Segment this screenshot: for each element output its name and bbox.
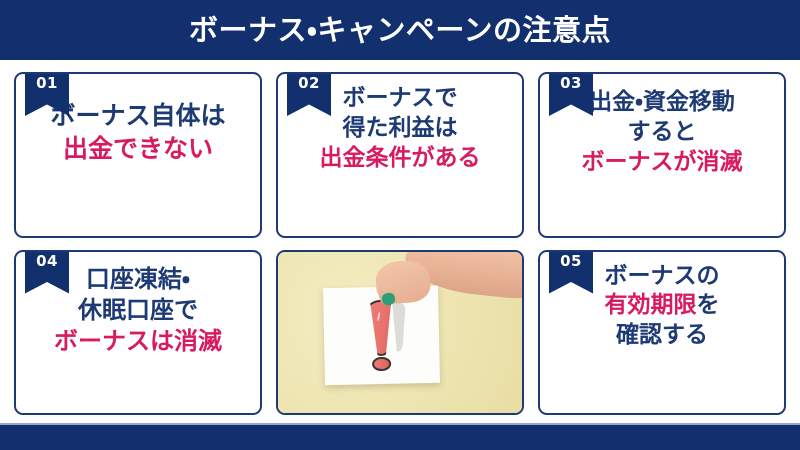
warning-card-photo [278, 252, 522, 414]
badge-number: 04 [25, 254, 69, 269]
text-segment: ボーナスは消滅 [54, 327, 222, 355]
notice-card-03: 03 出金・資金移動 すると ボーナスが消滅 [538, 72, 786, 238]
text-segment: 出金条件がある [320, 145, 481, 171]
notice-card-02: 02 ボーナスで 得た利益は 出金条件がある [276, 72, 524, 238]
text-segment: ボーナスが消滅 [582, 149, 743, 175]
photo-tile [276, 250, 524, 416]
card-line: すると [546, 118, 778, 148]
card-line: 休眠口座で [22, 295, 254, 326]
notice-card-04: 04 口座凍結・ 休眠口座で ボーナスは消滅 [14, 250, 262, 416]
exclamation-dot [373, 357, 392, 372]
card-line: ボーナスが消滅 [546, 148, 778, 178]
text-segment: ボーナスの [605, 263, 720, 289]
card-line: 確認する [546, 321, 778, 351]
text-segment: ボーナスで [343, 85, 458, 111]
card-line: 出金条件がある [284, 144, 516, 174]
card-line: ボーナスは消滅 [22, 326, 254, 357]
card-line: 有効期限を [546, 291, 778, 321]
cards-grid: 01 ボーナス自体は 出金できない 02 ボーナスで 得た利益は 出金条件がある… [0, 60, 800, 425]
badge-number: 03 [549, 76, 593, 91]
badge-number: 05 [549, 254, 593, 269]
text-segment: 有効期限 [605, 292, 697, 318]
text-segment: すると [628, 119, 697, 145]
notice-card-05: 05 ボーナスの 有効期限を 確認する [538, 250, 786, 416]
badge-number: 01 [25, 76, 69, 91]
card-line: 得た利益は [284, 114, 516, 144]
text-segment: 得た利益は [343, 115, 458, 141]
text-segment: 出金・資金移動 [589, 89, 735, 115]
text-segment: 出金できない [63, 134, 213, 163]
badge-number: 02 [287, 76, 331, 91]
exclamation-shadow [388, 301, 407, 352]
text-segment: 休眠口座で [78, 296, 198, 324]
text-segment: を [697, 292, 720, 318]
page-title: ボーナス・キャンペーンの注意点 [189, 16, 611, 45]
text-segment: 確認する [616, 322, 708, 348]
text-segment: 口座凍結・ [86, 265, 190, 293]
notice-card-01: 01 ボーナス自体は 出金できない [14, 72, 262, 238]
highlight-shape [377, 312, 381, 322]
footer-bar [0, 425, 800, 450]
header-bar: ボーナス・キャンペーンの注意点 [0, 0, 800, 60]
text-segment: ボーナス自体は [50, 101, 225, 130]
card-line: 出金できない [22, 133, 254, 166]
